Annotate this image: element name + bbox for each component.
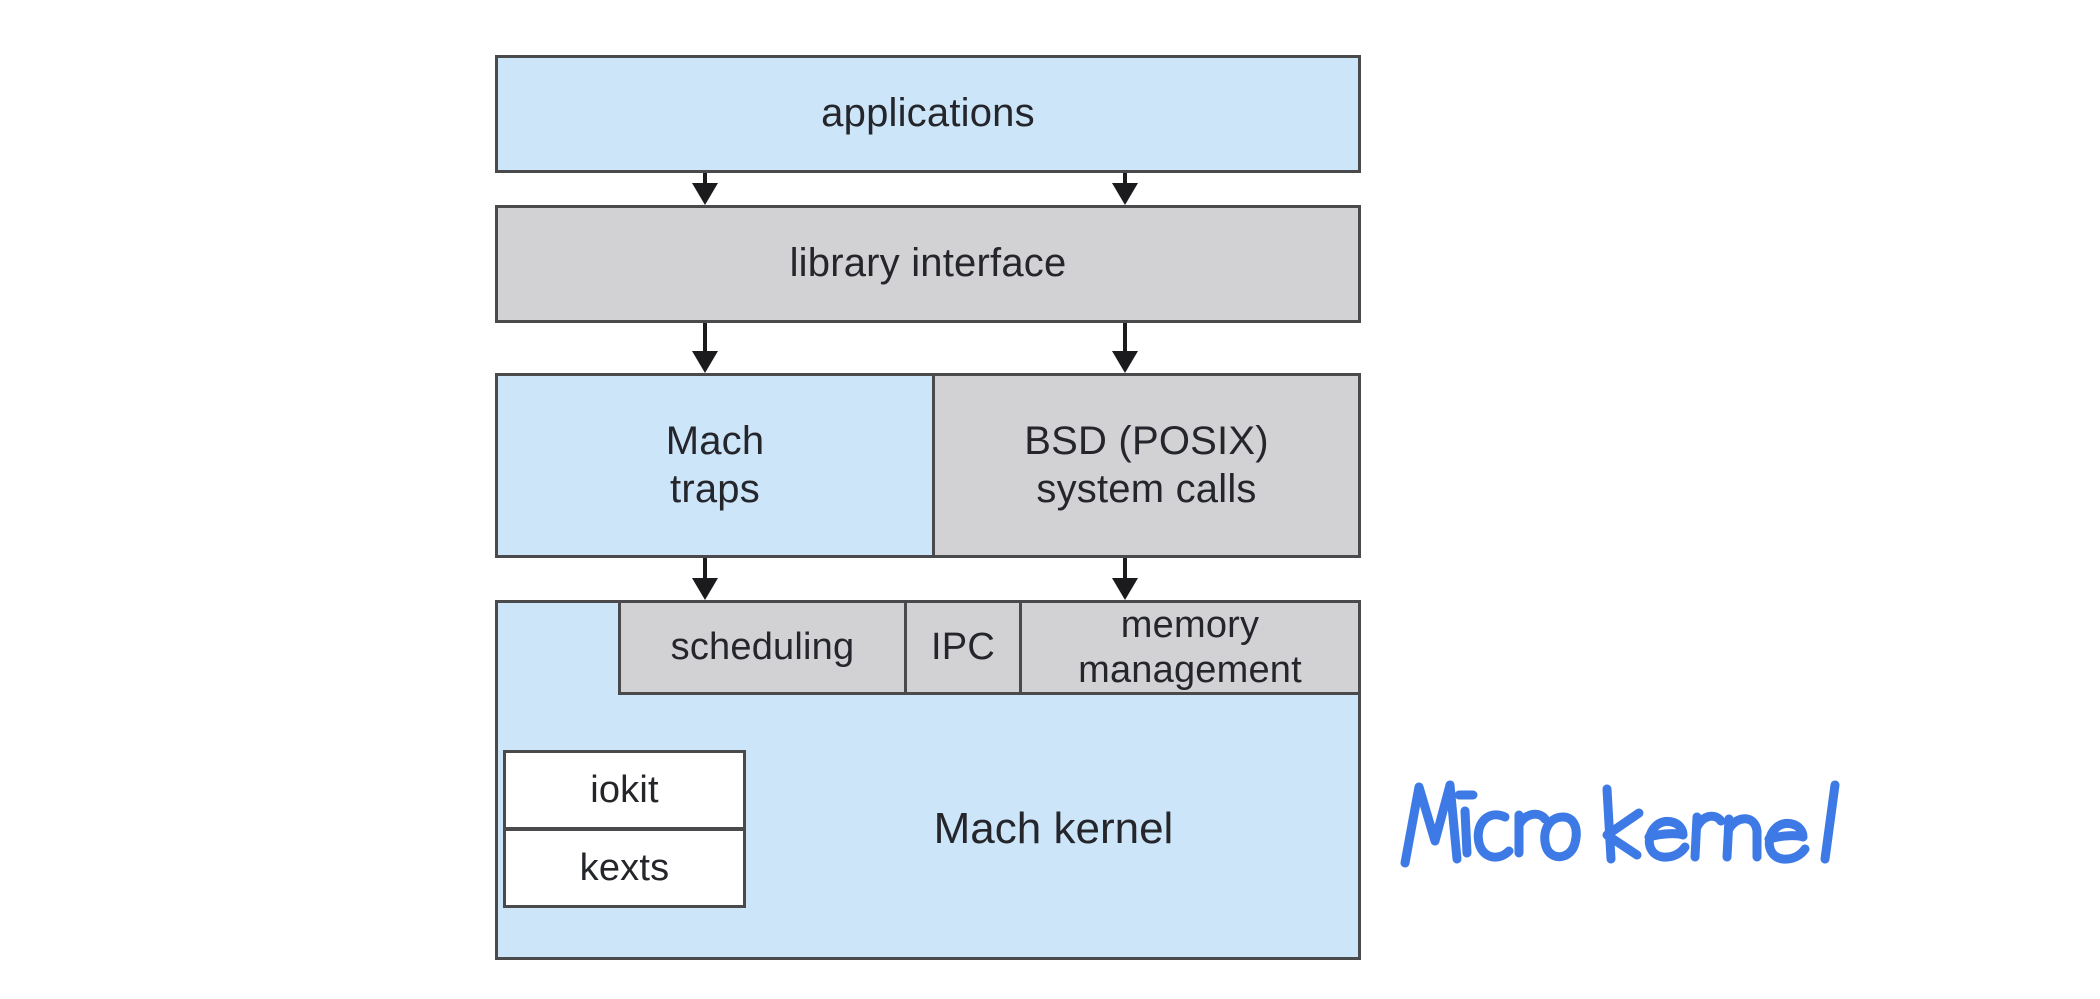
scheduling-box: scheduling [618, 600, 907, 695]
arrow-mach-traps-to-scheduling [693, 558, 717, 600]
scheduling-label: scheduling [671, 625, 855, 670]
mach-kernel-label: Mach kernel [934, 804, 1174, 854]
mach-traps-label-line2: traps [670, 466, 760, 513]
arrow-applications-to-library-left [693, 173, 717, 205]
arrow-head [1112, 578, 1138, 600]
arrow-library-to-bsd [1113, 323, 1137, 373]
diagram-canvas: applications library interface Mach trap… [0, 0, 2100, 999]
mach-traps-label-line1: Mach [666, 418, 765, 465]
ipc-box: IPC [904, 600, 1022, 695]
memory-management-label-line2: management [1078, 648, 1302, 693]
arrow-library-to-mach-traps [693, 323, 717, 373]
arrow-shaft [1123, 323, 1127, 353]
library-interface-box: library interface [495, 205, 1361, 323]
arrow-head [1112, 183, 1138, 205]
arrow-head [692, 351, 718, 373]
bsd-posix-label-line2: system calls [1036, 466, 1256, 513]
micro-kernel-ink-icon [1395, 755, 1865, 915]
ipc-label: IPC [931, 625, 995, 670]
kexts-label: kexts [580, 846, 670, 891]
arrow-head [692, 183, 718, 205]
kexts-box: kexts [503, 828, 746, 908]
iokit-label: iokit [590, 768, 659, 813]
arrow-shaft [703, 558, 707, 580]
arrow-head [1112, 351, 1138, 373]
applications-box: applications [495, 55, 1361, 173]
memory-management-label-line1: memory [1121, 603, 1259, 648]
arrow-shaft [1123, 558, 1127, 580]
arrow-shaft [703, 323, 707, 353]
memory-management-box: memory management [1019, 600, 1361, 695]
mach-traps-box: Mach traps [495, 373, 935, 558]
iokit-box: iokit [503, 750, 746, 830]
mach-kernel-label-wrapper: Mach kernel [746, 750, 1361, 908]
library-interface-label: library interface [790, 240, 1067, 287]
applications-label: applications [821, 90, 1035, 137]
handwritten-annotation: Micro kernel [1395, 755, 1865, 915]
bsd-posix-box: BSD (POSIX) system calls [932, 373, 1361, 558]
arrow-applications-to-library-right [1113, 173, 1137, 205]
arrow-head [692, 578, 718, 600]
arrow-bsd-to-memory-management [1113, 558, 1137, 600]
bsd-posix-label-line1: BSD (POSIX) [1024, 418, 1268, 465]
syscall-row: Mach traps BSD (POSIX) system calls [495, 373, 1361, 558]
